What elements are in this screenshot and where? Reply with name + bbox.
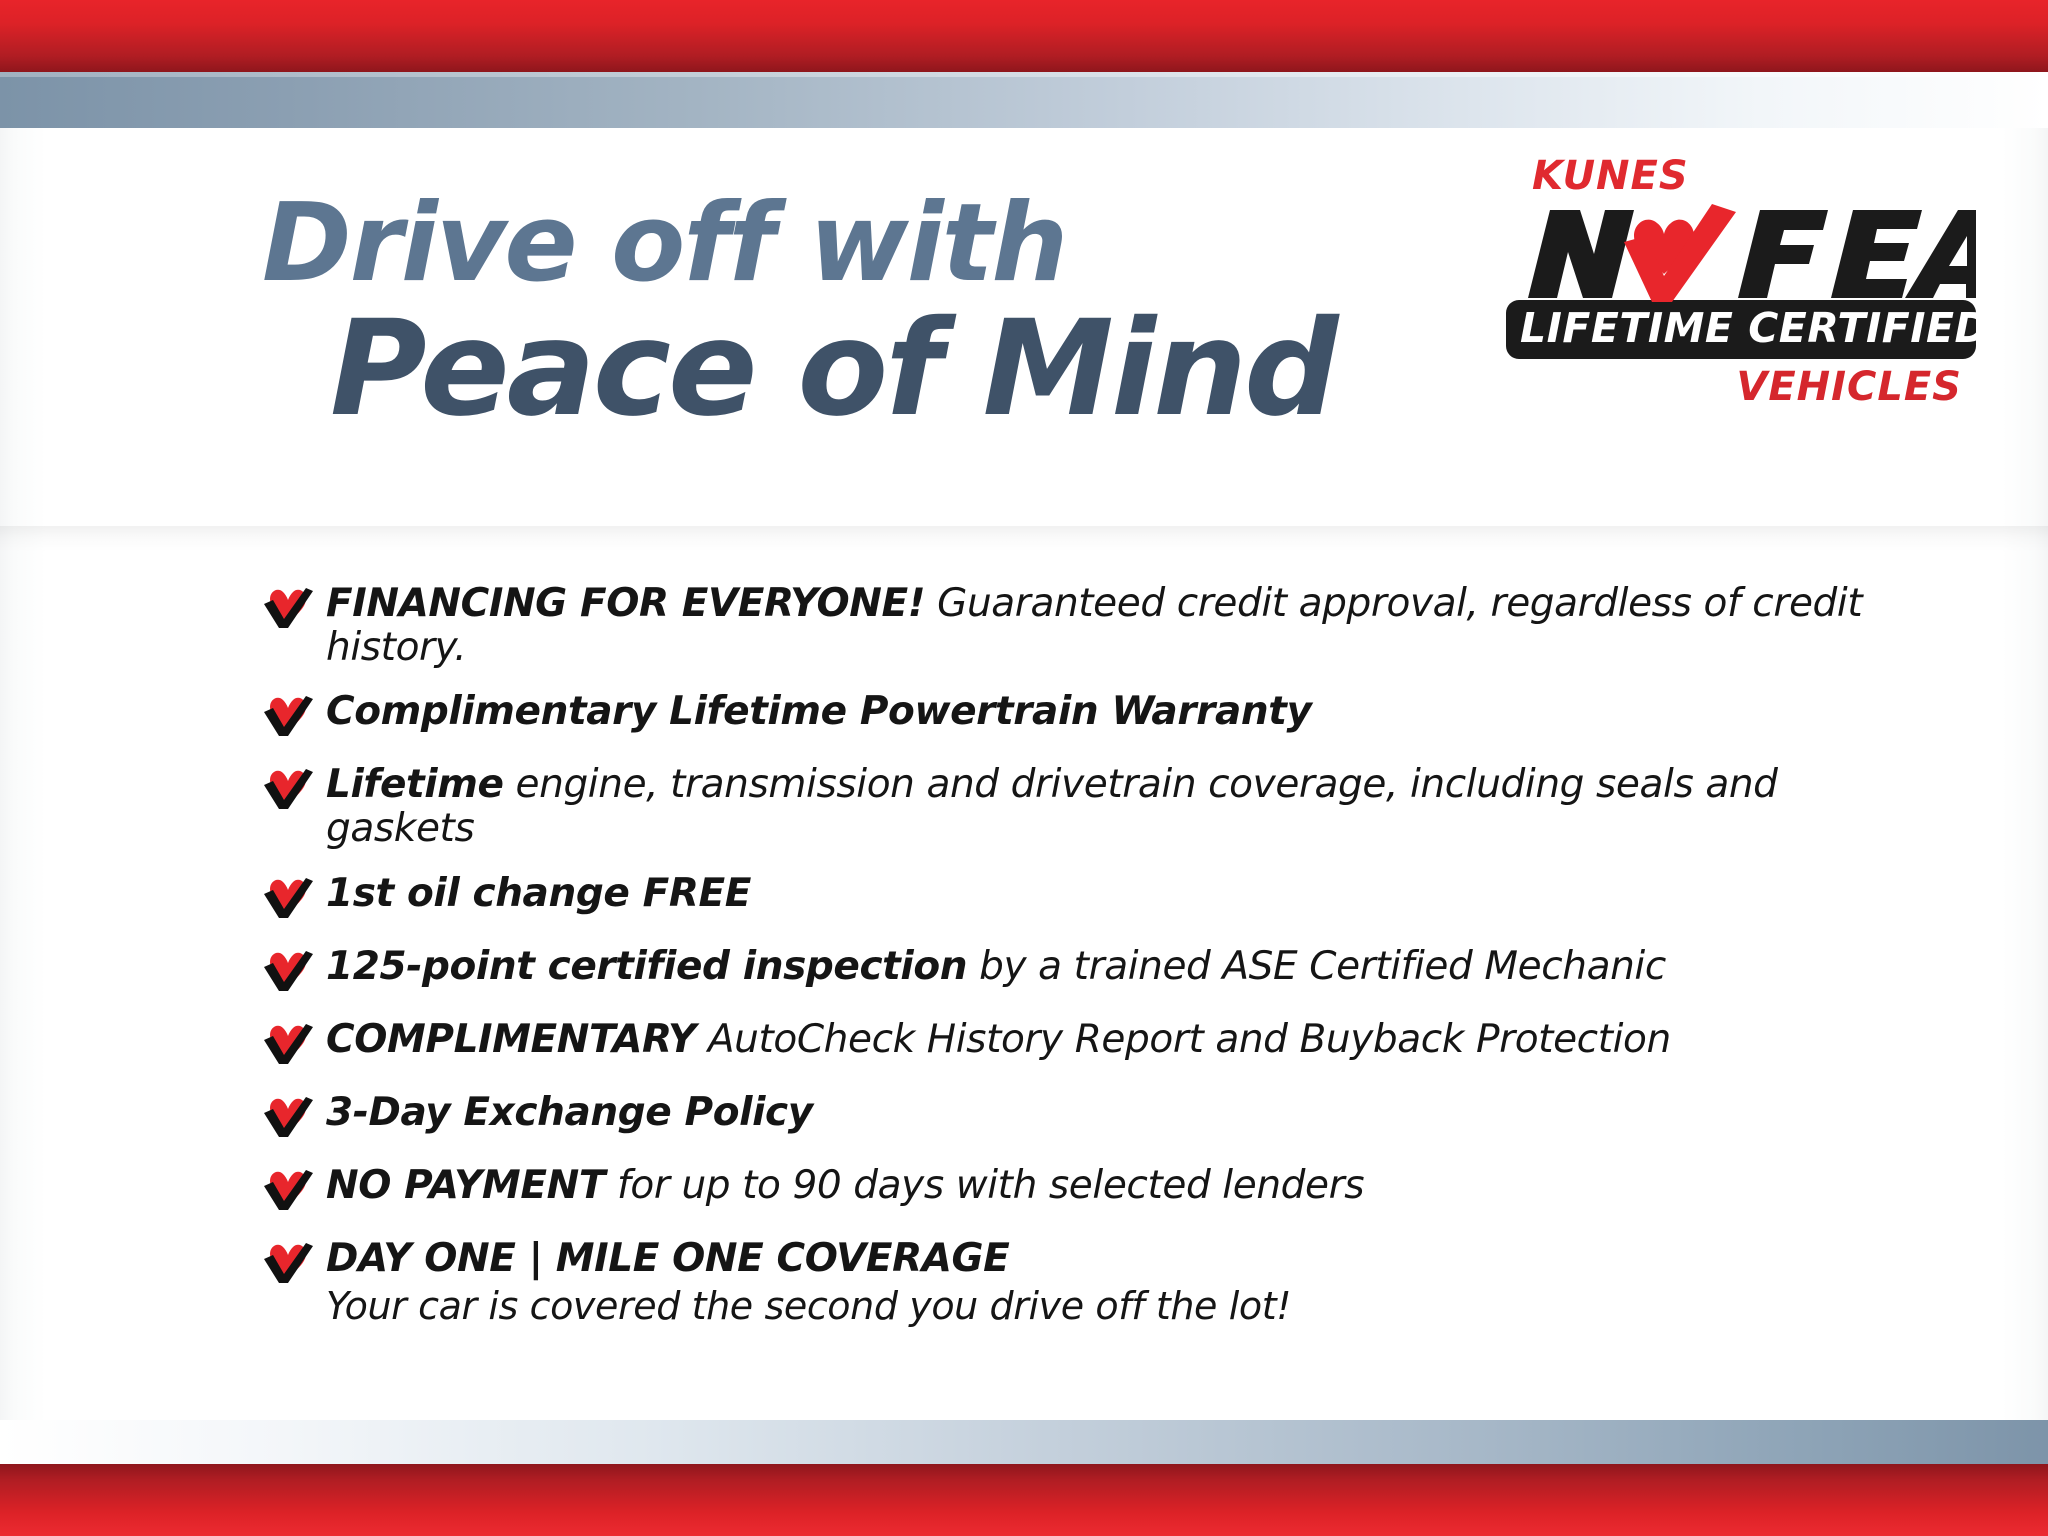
benefit-light: by a trained ASE Certified Mechanic — [967, 944, 1666, 989]
heart-check-icon — [262, 876, 314, 920]
content-panel: Drive off with Peace of Mind KUNES — [0, 128, 2048, 1420]
benefit-light: for up to 90 days with selected lenders — [605, 1163, 1364, 1208]
bottom-red-band — [0, 1464, 2048, 1536]
benefit-strong: 125-point certified inspection — [326, 944, 967, 989]
benefit-text: 125-point certified inspection by a trai… — [326, 944, 1666, 989]
kunes-no-fear-logo: KUNES — [1506, 156, 1976, 407]
benefit-text: NO PAYMENT for up to 90 days with select… — [326, 1163, 1364, 1208]
benefit-text: FINANCING FOR EVERYONE! Guaranteed credi… — [326, 581, 1862, 670]
logo-brand-text: KUNES — [1532, 156, 1976, 196]
heart-check-icon — [262, 1168, 314, 1212]
benefits-list: FINANCING FOR EVERYONE! Guaranteed credi… — [262, 582, 1928, 1330]
benefit-strong: FINANCING FOR EVERYONE! — [326, 581, 925, 626]
benefit-strong: DAY ONE | MILE ONE COVERAGE — [326, 1236, 1009, 1281]
benefit-subtext: Your car is covered the second you drive… — [326, 1284, 1928, 1330]
heart-check-icon — [262, 767, 314, 811]
heart-check-icon — [262, 1095, 314, 1139]
benefit-light: engine, transmission and drivetrain cove… — [326, 762, 1778, 851]
benefit-strong: Complimentary Lifetime Powertrain Warran… — [326, 689, 1312, 734]
heart-check-icon — [1624, 204, 1736, 302]
benefit-strong: COMPLIMENTARY — [326, 1017, 696, 1062]
nofear-svg — [1506, 198, 1976, 306]
benefit-text: COMPLIMENTARY AutoCheck History Report a… — [326, 1017, 1671, 1062]
header-divider — [0, 526, 2048, 552]
benefit-strong: 3-Day Exchange Policy — [326, 1090, 813, 1135]
benefit-light: AutoCheck History Report and Buyback Pro… — [696, 1017, 1671, 1062]
logo-nofear-wordmark — [1506, 198, 1976, 306]
heart-check-icon — [262, 949, 314, 993]
headline-line-1: Drive off with — [262, 190, 1382, 298]
benefit-text: DAY ONE | MILE ONE COVERAGE — [326, 1236, 1009, 1281]
header-section: Drive off with Peace of Mind KUNES — [0, 128, 2048, 528]
benefit-strong: 1st oil change FREE — [326, 871, 751, 916]
benefit-text: Complimentary Lifetime Powertrain Warran… — [326, 689, 1312, 734]
list-item: DAY ONE | MILE ONE COVERAGE Your car is … — [262, 1237, 1928, 1330]
logo-vehicles-text: VEHICLES — [1506, 367, 1962, 407]
bottom-gray-gradient-band — [0, 1420, 2048, 1464]
logo-lifetime-certified-bar: LIFETIME CERTIFIED — [1506, 300, 1976, 359]
headline-line-2: Peace of Mind — [330, 302, 1382, 437]
top-gray-gradient-band — [0, 72, 2048, 128]
top-red-band — [0, 0, 2048, 72]
promo-poster: Drive off with Peace of Mind KUNES — [0, 0, 2048, 1536]
list-item: Complimentary Lifetime Powertrain Warran… — [262, 690, 1928, 742]
list-item: COMPLIMENTARY AutoCheck History Report a… — [262, 1018, 1928, 1070]
heart-check-icon — [262, 694, 314, 738]
logo-bar-label: LIFETIME CERTIFIED — [1520, 308, 1962, 349]
list-item: 125-point certified inspection by a trai… — [262, 945, 1928, 997]
heart-check-icon — [262, 1241, 314, 1285]
benefit-text: Lifetime engine, transmission and drivet… — [326, 762, 1778, 851]
list-item: 1st oil change FREE — [262, 872, 1928, 924]
list-item: 3-Day Exchange Policy — [262, 1091, 1928, 1143]
list-item: FINANCING FOR EVERYONE! Guaranteed credi… — [262, 582, 1928, 669]
headline-block: Drive off with Peace of Mind — [262, 190, 1382, 437]
benefit-text: 3-Day Exchange Policy — [326, 1090, 813, 1135]
list-item: Lifetime engine, transmission and drivet… — [262, 763, 1928, 850]
benefit-text: 1st oil change FREE — [326, 871, 751, 916]
list-item: NO PAYMENT for up to 90 days with select… — [262, 1164, 1928, 1216]
heart-check-icon — [262, 1022, 314, 1066]
heart-check-icon — [262, 586, 314, 630]
benefit-strong: NO PAYMENT — [326, 1163, 605, 1208]
benefit-strong: Lifetime — [326, 762, 504, 807]
